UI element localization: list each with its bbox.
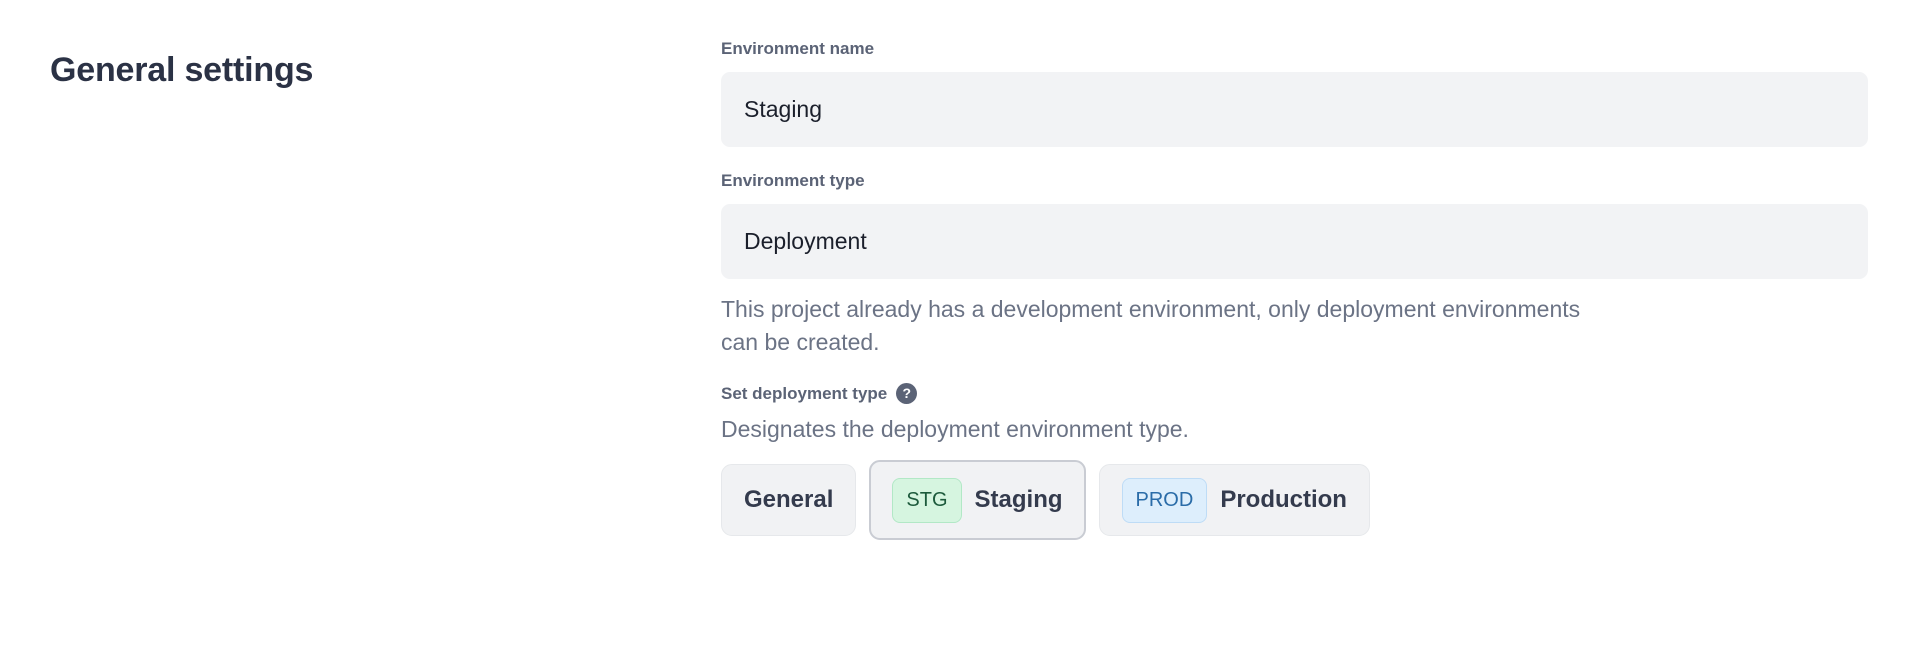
general-settings-page: General settings Environment name Enviro… — [0, 0, 1916, 652]
stg-badge: STG — [892, 478, 961, 523]
page-title: General settings — [50, 51, 313, 90]
deployment-type-option-staging[interactable]: STG Staging — [869, 460, 1085, 540]
environment-name-field: Environment name — [721, 38, 1868, 147]
settings-form: Environment name Environment type This p… — [721, 38, 1868, 540]
environment-type-field: Environment type This project already ha… — [721, 170, 1868, 359]
deployment-type-label: Set deployment type — [721, 384, 887, 404]
deployment-type-option-general-label: General — [744, 486, 833, 514]
question-mark-icon[interactable]: ? — [896, 383, 917, 404]
environment-name-label: Environment name — [721, 38, 1868, 60]
environment-type-label: Environment type — [721, 170, 1868, 192]
environment-type-input[interactable] — [721, 204, 1868, 279]
environment-type-helper-text: This project already has a development e… — [721, 293, 1621, 359]
environment-name-input[interactable] — [721, 72, 1868, 147]
deployment-type-option-staging-label: Staging — [975, 486, 1063, 514]
deployment-type-option-production-label: Production — [1220, 486, 1347, 514]
deployment-type-options: General STG Staging PROD Production — [721, 460, 1868, 540]
deployment-type-description: Designates the deployment environment ty… — [721, 414, 1868, 444]
deployment-type-option-production[interactable]: PROD Production — [1099, 464, 1370, 536]
deployment-type-label-row: Set deployment type ? — [721, 383, 1868, 404]
deployment-type-field: Set deployment type ? Designates the dep… — [721, 383, 1868, 540]
prod-badge: PROD — [1122, 478, 1208, 523]
deployment-type-option-general[interactable]: General — [721, 464, 856, 536]
